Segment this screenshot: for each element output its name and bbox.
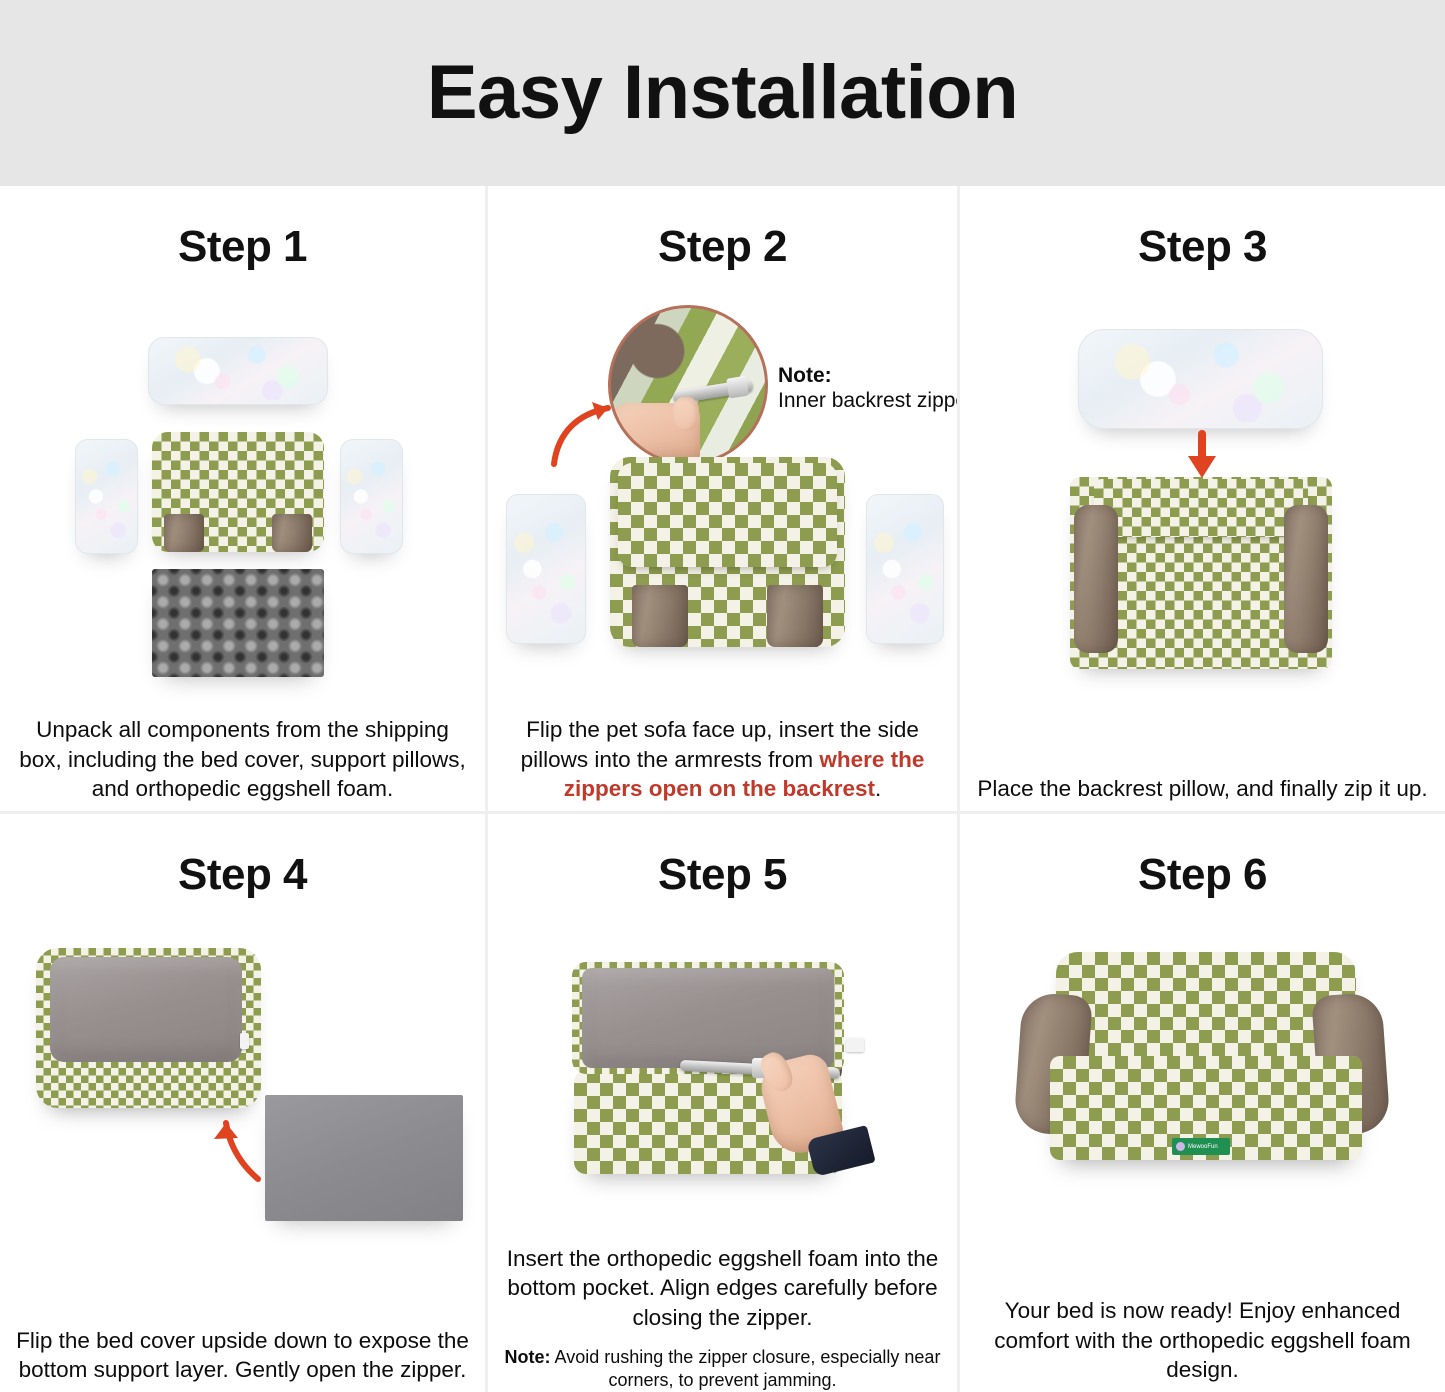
brand-tag-text: MewooFun	[1188, 1144, 1218, 1150]
gray-support-panel	[265, 1095, 463, 1221]
armrest-pocket-left	[632, 585, 688, 647]
step-2-title: Step 2	[658, 222, 787, 272]
side-pillow-left	[506, 494, 586, 644]
step-panel-3: Step 3 Place the backrest pillow,	[960, 186, 1445, 811]
eggshell-foam	[152, 569, 324, 677]
step-4-caption: Flip the bed cover upside down to expose…	[0, 1326, 485, 1392]
note-title: Note:	[778, 364, 960, 388]
armrest-right	[1284, 505, 1328, 653]
brand-logo-icon	[1176, 1142, 1185, 1151]
bed-cover-pocket-right	[272, 514, 312, 552]
step-5-illustration	[488, 900, 957, 1244]
side-pillow-right	[340, 439, 403, 554]
flipped-bed-cover	[36, 948, 261, 1108]
step-panel-1: Step 1 Unpack all components from the sh…	[0, 186, 485, 811]
step-panel-5: Step 5	[485, 811, 960, 1392]
bottom-support-layer	[50, 957, 242, 1062]
step-6-illustration: MewooFun	[960, 900, 1445, 1296]
finger	[673, 397, 699, 431]
step-1-title: Step 1	[178, 222, 307, 272]
curved-arrow	[196, 1105, 270, 1185]
sofa-base-with-armrests	[1070, 477, 1332, 669]
bed-cover-pocket-left	[164, 514, 204, 552]
step-2-caption-post: .	[875, 776, 881, 801]
bed-cover	[152, 432, 324, 552]
step-5-note-body: Avoid rushing the zipper closure, especi…	[551, 1347, 941, 1390]
step-5-title: Step 5	[658, 850, 787, 900]
steps-grid: Step 1 Unpack all components from the sh…	[0, 186, 1445, 1392]
step-3-illustration	[960, 272, 1445, 774]
finished-sofa-bed: MewooFun	[1004, 952, 1400, 1202]
note-callout: Note: Inner backrest zipper.	[778, 364, 960, 413]
care-tab	[846, 1038, 864, 1052]
step-6-caption: Your bed is now ready! Enjoy enhanced co…	[960, 1296, 1445, 1392]
step-panel-6: Step 6 MewooFun	[960, 811, 1445, 1392]
step-5-note-label: Note:	[505, 1347, 551, 1367]
step-2-caption: Flip the pet sofa face up, insert the si…	[488, 715, 957, 811]
side-pillow-right	[866, 494, 944, 644]
step-4-illustration	[0, 900, 485, 1326]
brand-tag: MewooFun	[1172, 1138, 1230, 1155]
zipper-detail-inset	[608, 305, 768, 465]
step-6-title: Step 6	[1138, 850, 1267, 900]
step-3-title: Step 3	[1138, 222, 1267, 272]
eggshell-foam-slab	[582, 968, 834, 1068]
armrest-pocket-right	[767, 585, 823, 647]
step-5-note: Note: Avoid rushing the zipper closure, …	[488, 1340, 957, 1392]
down-arrow	[1182, 432, 1222, 480]
note-body: Inner backrest zipper.	[778, 388, 960, 413]
step-1-caption: Unpack all components from the shipping …	[0, 715, 485, 811]
bed-cover	[610, 457, 845, 647]
armrest-left	[1074, 505, 1118, 653]
care-tab	[240, 1033, 249, 1049]
backrest-cushion	[1056, 952, 1356, 1062]
step-2-illustration: Note: Inner backrest zipper.	[488, 272, 957, 715]
side-pillow-left	[75, 439, 138, 554]
page-title: Easy Installation	[427, 55, 1018, 131]
step-4-title: Step 4	[178, 850, 307, 900]
step-3-caption: Place the backrest pillow, and finally z…	[961, 774, 1443, 811]
step-panel-4: Step 4 Flip the bed cover upside down to…	[0, 811, 485, 1392]
step-5-caption: Insert the orthopedic eggshell foam into…	[488, 1244, 957, 1340]
step-1-illustration	[0, 272, 485, 715]
backrest-pillow	[1078, 329, 1323, 429]
page-header: Easy Installation	[0, 0, 1445, 186]
backrest-flap	[618, 463, 837, 567]
step-panel-2: Step 2 Note: Inner backrest zipper.	[485, 186, 960, 811]
backrest-pillow	[148, 337, 328, 405]
backrest-panel	[1094, 479, 1308, 537]
